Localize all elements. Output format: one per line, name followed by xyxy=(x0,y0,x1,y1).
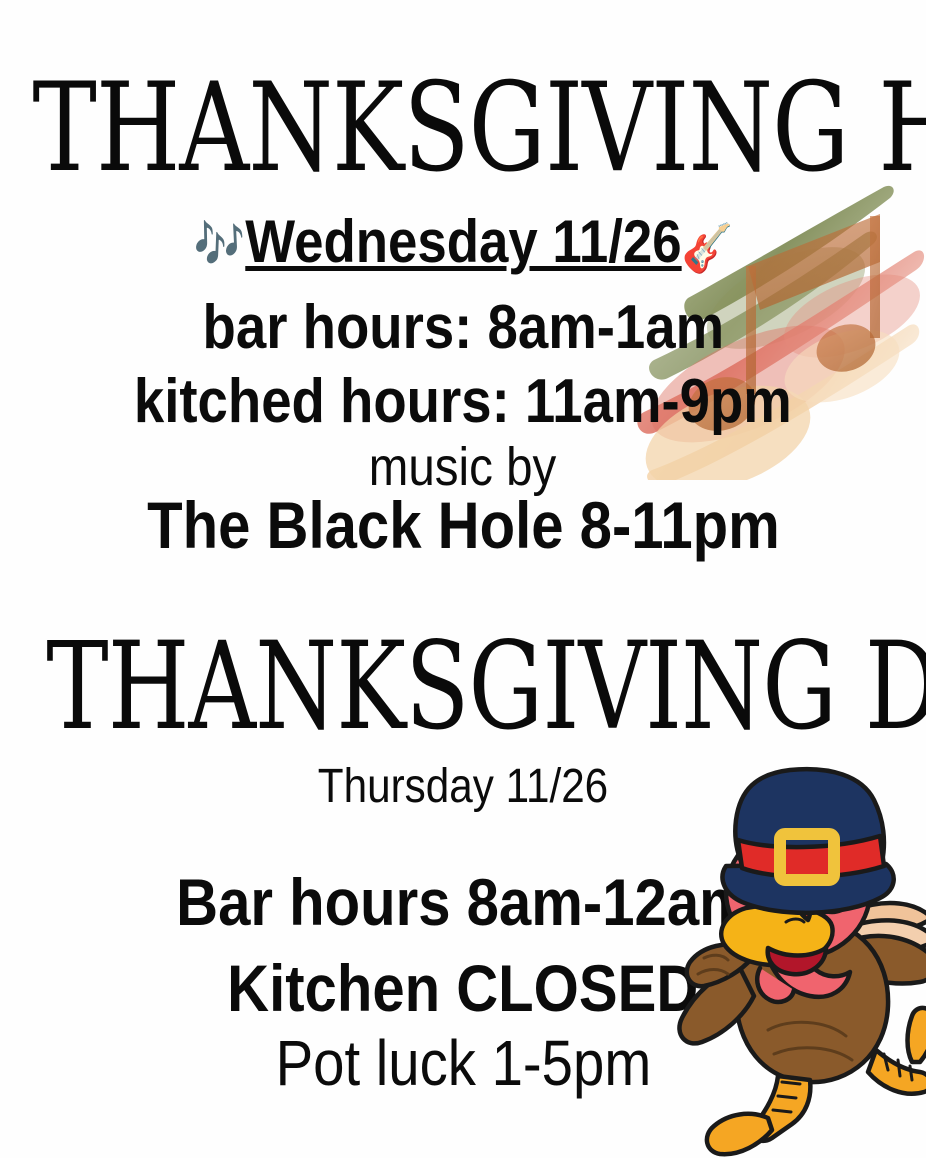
music-by-label: music by xyxy=(0,440,926,494)
wednesday-kitchen-hours: kitched hours: 11am-9pm xyxy=(0,371,926,433)
thursday-date-text: Thursday 11/26 xyxy=(318,763,608,811)
guitar-icon: 🎸 xyxy=(681,225,733,272)
wednesday-bar-hours-text: bar hours: 8am-1am xyxy=(202,297,724,359)
thursday-date-line: Thursday 11/26 xyxy=(0,763,926,811)
wednesday-kitchen-hours-text: kitched hours: 11am-9pm xyxy=(134,371,792,433)
wednesday-bar-hours: bar hours: 8am-1am xyxy=(0,297,926,359)
music-by-text: music by xyxy=(369,440,556,494)
heading-thanksgiving-day: THANKSGIVING DAY xyxy=(46,626,879,747)
wednesday-date-line: 🎶Wednesday 11/26🎸 xyxy=(0,212,926,272)
flyer-text-content: THANKSGIVING HOURS 🎶Wednesday 11/26🎸 bar… xyxy=(0,0,926,1158)
thursday-kitchen-status-text: Kitchen CLOSED xyxy=(227,955,698,1021)
thursday-bar-hours: Bar hours 8am-12am xyxy=(0,869,926,935)
thursday-bar-hours-text: Bar hours 8am-12am xyxy=(176,869,751,935)
thursday-kitchen-status: Kitchen CLOSED xyxy=(0,955,926,1021)
potluck-line: Pot luck 1-5pm xyxy=(0,1031,926,1095)
band-name-text: The Black Hole 8-11pm xyxy=(147,492,780,558)
heading-thanksgiving-hours: THANKSGIVING HOURS xyxy=(32,66,893,189)
music-notes-icon: 🎶 xyxy=(193,221,245,268)
potluck-text: Pot luck 1-5pm xyxy=(275,1031,651,1095)
band-name-line: The Black Hole 8-11pm xyxy=(0,492,926,558)
thanksgiving-hours-flyer: THANKSGIVING HOURS 🎶Wednesday 11/26🎸 bar… xyxy=(0,0,926,1158)
wednesday-date-text: Wednesday 11/26 xyxy=(245,208,681,275)
